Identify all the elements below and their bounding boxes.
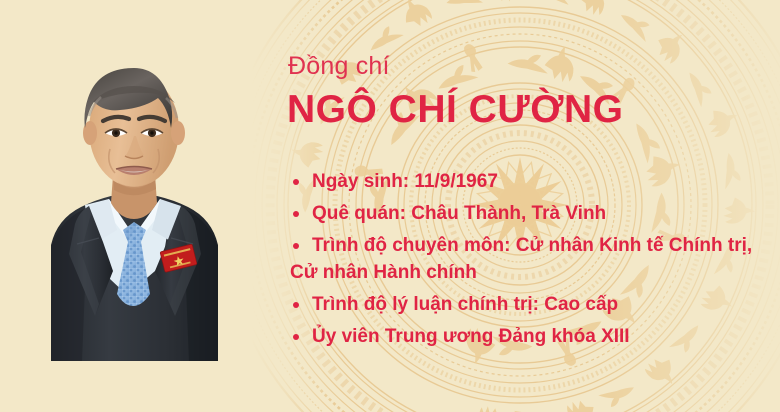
list-item: Trình độ lý luận chính trị: Cao cấp xyxy=(290,291,760,318)
bullet-dot-icon xyxy=(293,334,299,340)
bullet-dot-icon xyxy=(293,211,299,217)
bullet-dot-icon xyxy=(293,179,299,185)
detail-text: Trình độ chuyên môn: Cử nhân Kinh tế Chí… xyxy=(312,235,752,256)
list-item: Trình độ chuyên môn: Cử nhân Kinh tế Chí… xyxy=(290,232,760,286)
profile-text-column: Đồng chí NGÔ CHÍ CƯỜNG Ngày sinh: 11/9/1… xyxy=(286,0,766,412)
profile-card: Đồng chí NGÔ CHÍ CƯỜNG Ngày sinh: 11/9/1… xyxy=(0,0,780,412)
bullet-dot-icon xyxy=(293,243,299,249)
detail-text: Ngày sinh: 11/9/1967 xyxy=(312,171,498,192)
detail-text-continuation: Cử nhân Hành chính xyxy=(290,259,760,286)
detail-list: Ngày sinh: 11/9/1967 Quê quán: Châu Thàn… xyxy=(290,168,760,355)
portrait-illustration xyxy=(17,30,251,361)
detail-text: Ủy viên Trung ương Đảng khóa XIII xyxy=(312,326,630,347)
eyebrow-label: Đồng chí xyxy=(288,52,390,80)
list-item: Ngày sinh: 11/9/1967 xyxy=(290,168,760,195)
list-item: Quê quán: Châu Thành, Trà Vinh xyxy=(290,200,760,227)
list-item: Ủy viên Trung ương Đảng khóa XIII xyxy=(290,323,760,350)
detail-text: Trình độ lý luận chính trị: Cao cấp xyxy=(312,294,618,315)
bullet-dot-icon xyxy=(293,302,299,308)
portrait-photo xyxy=(17,30,251,361)
detail-text: Quê quán: Châu Thành, Trà Vinh xyxy=(312,203,606,224)
page-title: NGÔ CHÍ CƯỜNG xyxy=(287,88,623,132)
